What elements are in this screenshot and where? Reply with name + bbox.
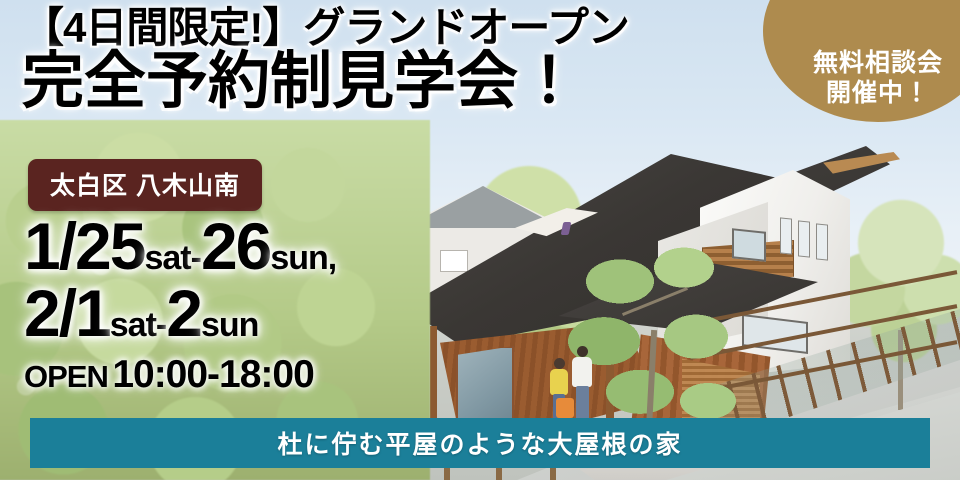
schedule-row-1-date-2: 26: [201, 209, 270, 283]
area-badge: 太白区 八木山南: [28, 159, 262, 211]
headline-line-1: 【4日間限定!】グランドオープン: [22, 6, 722, 51]
schedule-row-2-day-1: sat: [110, 306, 156, 344]
open-label: OPEN: [24, 359, 108, 394]
badge-line-2: 開催中！: [826, 79, 930, 109]
person-adult-legs: [576, 386, 589, 420]
headline-line-2: 完全予約制見学会！: [22, 49, 722, 115]
window-tall-2: [798, 220, 810, 257]
tagline-band: 杜に佇む平屋のような大屋根の家: [30, 418, 930, 468]
headline-block: 【4日間限定!】グランドオープン 完全予約制見学会！: [22, 6, 722, 114]
schedule-block: 1/25sat-26sun, 2/1sat-2sun OPEN 10:00-18…: [24, 214, 336, 397]
schedule-row-2-date: 2/1: [24, 276, 110, 350]
schedule-row-2-date-2: 2: [166, 276, 201, 350]
person-adult-body: [572, 357, 592, 387]
tagline-text: 杜に佇む平屋のような大屋根の家: [277, 425, 682, 461]
badge-line-1: 無料相談会: [813, 49, 943, 79]
window-tall-3: [816, 223, 828, 260]
schedule-row-1-date: 1/25: [24, 209, 144, 283]
person-adult-head: [577, 346, 588, 357]
schedule-row-1-day-2: sun,: [270, 239, 336, 277]
promo-banner: 無料相談会 開催中！ 【4日間限定!】グランドオープン 完全予約制見学会！ 太白…: [0, 0, 960, 480]
schedule-row-1-dash: -: [191, 239, 201, 277]
person-child-body: [550, 369, 568, 395]
person-adult: [570, 346, 594, 420]
schedule-row-1: 1/25sat-26sun,: [24, 214, 336, 279]
open-time: 10:00-18:00: [112, 353, 313, 396]
schedule-row-2-day-2: sun: [201, 306, 258, 344]
person-child-head: [554, 358, 565, 369]
schedule-row-2: 2/1sat-2sun: [24, 281, 336, 346]
schedule-row-2-dash: -: [156, 306, 166, 344]
schedule-row-1-day-1: sat: [144, 239, 190, 277]
open-hours-row: OPEN 10:00-18:00: [24, 353, 336, 397]
window-tall-1: [780, 217, 792, 254]
